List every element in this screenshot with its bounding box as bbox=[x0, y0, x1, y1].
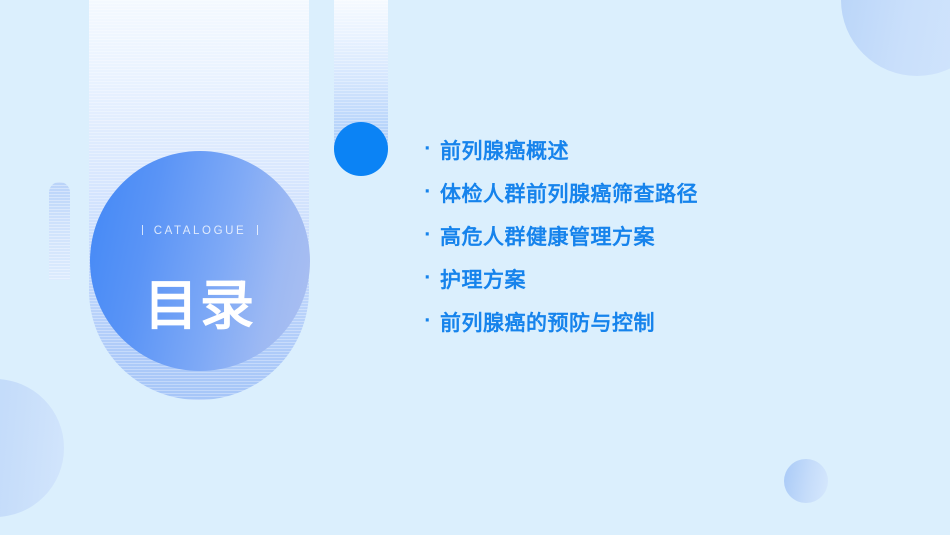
agenda-item-1[interactable]: · 前列腺癌概述 bbox=[424, 128, 884, 171]
agenda-item-4[interactable]: · 护理方案 bbox=[424, 257, 884, 300]
agenda-item-2[interactable]: · 体检人群前列腺癌筛查路径 bbox=[424, 171, 884, 214]
agenda-item-5[interactable]: · 前列腺癌的预防与控制 bbox=[424, 300, 884, 343]
agenda-item-3[interactable]: · 高危人群健康管理方案 bbox=[424, 214, 884, 257]
agenda-item-label: 高危人群健康管理方案 bbox=[440, 221, 884, 251]
bullet-icon: · bbox=[424, 141, 440, 158]
decorative-circle-bottom-right bbox=[784, 459, 828, 503]
agenda-item-label: 前列腺癌概述 bbox=[440, 135, 884, 165]
bullet-icon: · bbox=[424, 270, 440, 287]
catalogue-eyebrow: CATALOGUE bbox=[90, 225, 310, 237]
bullet-icon: · bbox=[424, 313, 440, 330]
agenda-item-label: 体检人群前列腺癌筛查路径 bbox=[440, 178, 884, 208]
tick-mark-left-icon bbox=[142, 225, 143, 235]
bullet-icon: · bbox=[424, 227, 440, 244]
agenda-item-label: 前列腺癌的预防与控制 bbox=[440, 307, 884, 337]
catalogue-circle: CATALOGUE 目录 bbox=[90, 151, 310, 371]
decorative-circle-top-right bbox=[841, 0, 950, 76]
agenda-list: · 前列腺癌概述 · 体检人群前列腺癌筛查路径 · 高危人群健康管理方案 · 护… bbox=[424, 128, 884, 343]
catalogue-title: 目录 bbox=[90, 279, 310, 333]
agenda-item-label: 护理方案 bbox=[440, 264, 884, 294]
presentation-slide: CATALOGUE 目录 · 前列腺癌概述 · 体检人群前列腺癌筛查路径 · 高… bbox=[0, 0, 950, 535]
decorative-circle-bottom-left bbox=[0, 379, 64, 517]
decorative-bar-small bbox=[49, 182, 70, 280]
bullet-icon: · bbox=[424, 184, 440, 201]
tick-mark-right-icon bbox=[257, 225, 258, 235]
catalogue-eyebrow-label: CATALOGUE bbox=[154, 225, 247, 237]
decorative-dot-accent bbox=[334, 122, 388, 176]
